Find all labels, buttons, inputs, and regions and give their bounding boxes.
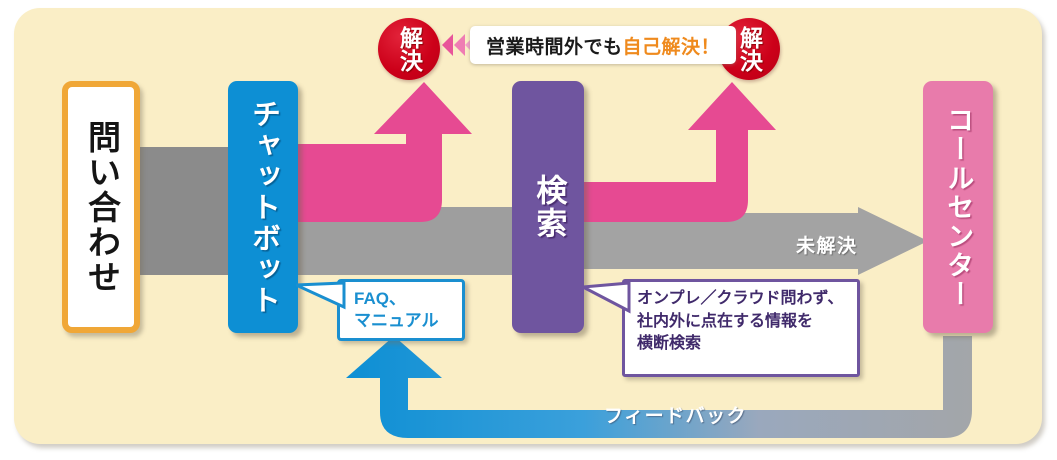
resolve-badge-chatbot: 解決 bbox=[378, 18, 440, 80]
faq-callout-tail bbox=[296, 281, 356, 325]
callout-faq: FAQ、 マニュアル bbox=[337, 279, 465, 341]
flow-band-inquiry-to-chatbot bbox=[140, 147, 232, 275]
unresolved-label: 未解決 bbox=[796, 231, 858, 258]
node-chatbot[interactable]: チャットボット bbox=[228, 81, 298, 333]
diagram-stage: 未解決 問い合わせ チャットボット 検索 コールセンター 解決 解決 営業時間外… bbox=[0, 0, 1057, 460]
pink-arrow-search-resolve bbox=[580, 82, 776, 222]
callout-faq-text: FAQ、 マニュアル bbox=[354, 288, 462, 333]
resolve-badge-search-label: 解決 bbox=[738, 26, 761, 72]
callout-search-detail-text: オンプレ／クラウド問わず、 社内外に点在する情報を 横断検索 bbox=[637, 288, 857, 356]
node-search-label: 検索 bbox=[532, 174, 565, 240]
callout-search-detail: オンプレ／クラウド問わず、 社内外に点在する情報を 横断検索 bbox=[622, 279, 860, 377]
resolve-badge-chatbot-label: 解決 bbox=[398, 26, 421, 72]
search-callout-tail bbox=[583, 281, 641, 327]
banner-self-resolution: 営業時間外でも自己解決！ bbox=[470, 26, 736, 64]
node-inquiry-label: 問い合わせ bbox=[84, 120, 119, 295]
node-callcenter[interactable]: コールセンター bbox=[923, 81, 993, 333]
node-search[interactable]: 検索 bbox=[512, 81, 584, 333]
banner-text-highlight: 自己解決！ bbox=[623, 32, 721, 59]
node-callcenter-label: コールセンター bbox=[944, 106, 973, 309]
feedback-label: フィードバック bbox=[604, 401, 747, 428]
pink-arrow-chatbot-resolve bbox=[296, 82, 472, 222]
banner-text-plain: 営業時間外でも bbox=[486, 32, 623, 59]
node-chatbot-label: チャットボット bbox=[248, 99, 279, 316]
node-inquiry[interactable]: 問い合わせ bbox=[62, 81, 140, 333]
